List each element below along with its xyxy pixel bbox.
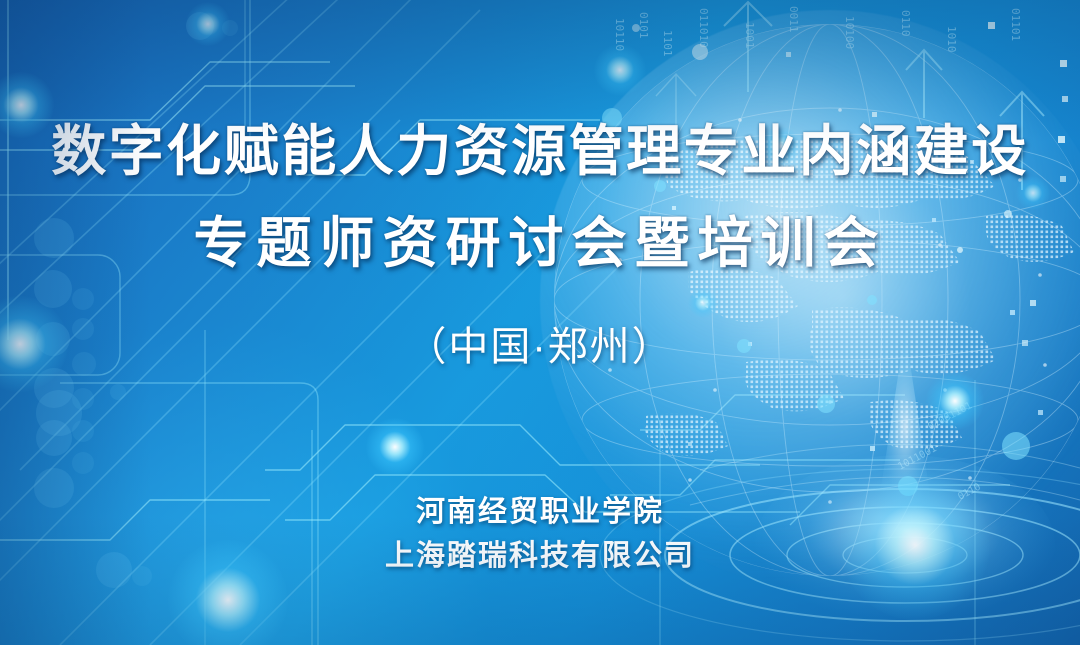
svg-text:10110: 10110	[613, 18, 626, 51]
svg-text:1001: 1001	[743, 22, 756, 49]
poster-canvas: 10110 0101 1101 011010 1001 0011 10100 0…	[0, 0, 1080, 645]
organizers-block: 河南经贸职业学院 上海踏瑞科技有限公司	[0, 490, 1080, 578]
poster-heading-block: 数字化赋能人力资源管理专业内涵建设 专题师资研讨会暨培训会 （中国·郑州）	[0, 116, 1080, 372]
title-line-2: 专题师资研讨会暨培训会	[0, 208, 1080, 278]
location-label: （中国·郑州）	[0, 314, 1080, 372]
svg-text:01101: 01101	[1009, 8, 1022, 41]
svg-text:0101: 0101	[637, 12, 650, 39]
organizer-primary: 河南经贸职业学院	[0, 490, 1080, 534]
svg-text:1101: 1101	[661, 30, 674, 57]
svg-text:0011: 0011	[787, 6, 800, 33]
svg-text:011010: 011010	[697, 8, 710, 48]
svg-text:0110: 0110	[899, 10, 912, 37]
svg-text:1010: 1010	[945, 26, 958, 53]
svg-text:01001101: 01001101	[926, 400, 974, 432]
svg-text:10100: 10100	[843, 16, 856, 49]
title-line-1: 数字化赋能人力资源管理专业内涵建设	[0, 116, 1080, 186]
organizer-secondary: 上海踏瑞科技有限公司	[0, 534, 1080, 578]
svg-text:1011001: 1011001	[896, 443, 938, 473]
